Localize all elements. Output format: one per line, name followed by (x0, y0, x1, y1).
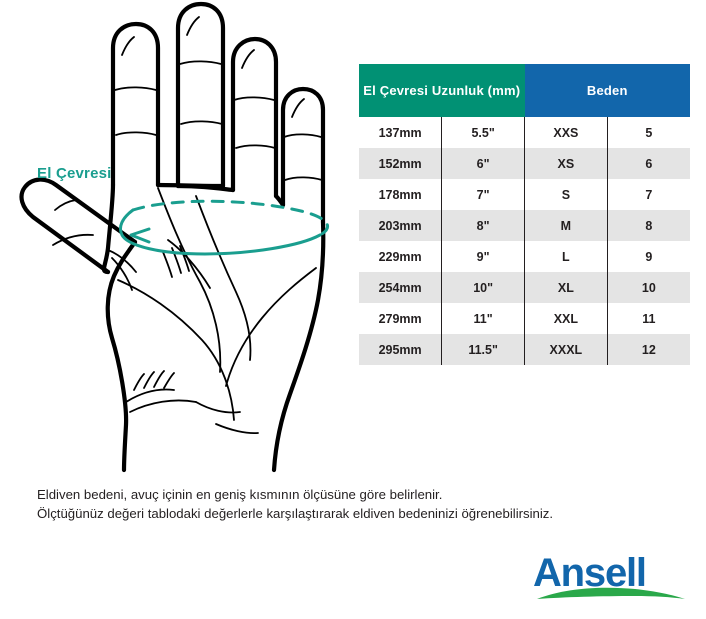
cell-inch: 6" (442, 148, 525, 179)
cell-inch: 9" (442, 241, 525, 272)
cell-number: 12 (607, 334, 690, 365)
table-row: 295mm 11.5" XXXL 12 (359, 334, 690, 365)
cell-inch: 11.5" (442, 334, 525, 365)
table-row: 178mm 7" S 7 (359, 179, 690, 210)
table-header: El Çevresi Uzunluk (mm) Beden (359, 64, 690, 117)
table-row: 279mm 11" XXL 11 (359, 303, 690, 334)
cell-mm: 203mm (359, 210, 442, 241)
cell-letter: XL (525, 272, 608, 303)
ansell-logo: Ansell (533, 553, 689, 605)
hand-illustration: El Çevresi (0, 0, 355, 480)
table-row: 152mm 6" XS 6 (359, 148, 690, 179)
cell-mm: 295mm (359, 334, 442, 365)
cell-letter: XXL (525, 303, 608, 334)
cell-mm: 152mm (359, 148, 442, 179)
hand-circumference-label: El Çevresi (37, 165, 112, 182)
cell-mm: 137mm (359, 117, 442, 148)
instructions-line-2: Ölçtüğünüz değeri tablodaki değerlerle k… (37, 504, 687, 523)
cell-number: 7 (607, 179, 690, 210)
cell-inch: 8" (442, 210, 525, 241)
cell-inch: 11" (442, 303, 525, 334)
circumference-measure-indicator (120, 201, 327, 254)
cell-letter: L (525, 241, 608, 272)
cell-inch: 7" (442, 179, 525, 210)
cell-letter: M (525, 210, 608, 241)
cell-letter: XXXL (525, 334, 608, 365)
table-header-row: El Çevresi Uzunluk (mm) Beden (359, 64, 690, 117)
header-hand-circumference: El Çevresi Uzunluk (mm) (359, 64, 525, 117)
table-row: 203mm 8" M 8 (359, 210, 690, 241)
table-body: 137mm 5.5" XXS 5 152mm 6" XS 6 178mm 7" … (359, 117, 690, 365)
cell-number: 8 (607, 210, 690, 241)
instructions-line-1: Eldiven bedeni, avuç içinin en geniş kıs… (37, 485, 687, 504)
cell-mm: 279mm (359, 303, 442, 334)
instructions-text: Eldiven bedeni, avuç içinin en geniş kıs… (37, 485, 687, 523)
ansell-swoosh-icon (535, 586, 687, 602)
cell-number: 5 (607, 117, 690, 148)
table-row: 137mm 5.5" XXS 5 (359, 117, 690, 148)
cell-number: 10 (607, 272, 690, 303)
cell-letter: XS (525, 148, 608, 179)
cell-inch: 10" (442, 272, 525, 303)
cell-number: 6 (607, 148, 690, 179)
cell-inch: 5.5" (442, 117, 525, 148)
table-row: 229mm 9" L 9 (359, 241, 690, 272)
table-row: 254mm 10" XL 10 (359, 272, 690, 303)
cell-number: 9 (607, 241, 690, 272)
cell-number: 11 (607, 303, 690, 334)
header-size: Beden (525, 64, 691, 117)
cell-mm: 229mm (359, 241, 442, 272)
hand-crease-lines (53, 17, 322, 433)
cell-mm: 178mm (359, 179, 442, 210)
cell-letter: XXS (525, 117, 608, 148)
glove-size-table: El Çevresi Uzunluk (mm) Beden 137mm 5.5"… (359, 64, 690, 365)
cell-letter: S (525, 179, 608, 210)
cell-mm: 254mm (359, 272, 442, 303)
